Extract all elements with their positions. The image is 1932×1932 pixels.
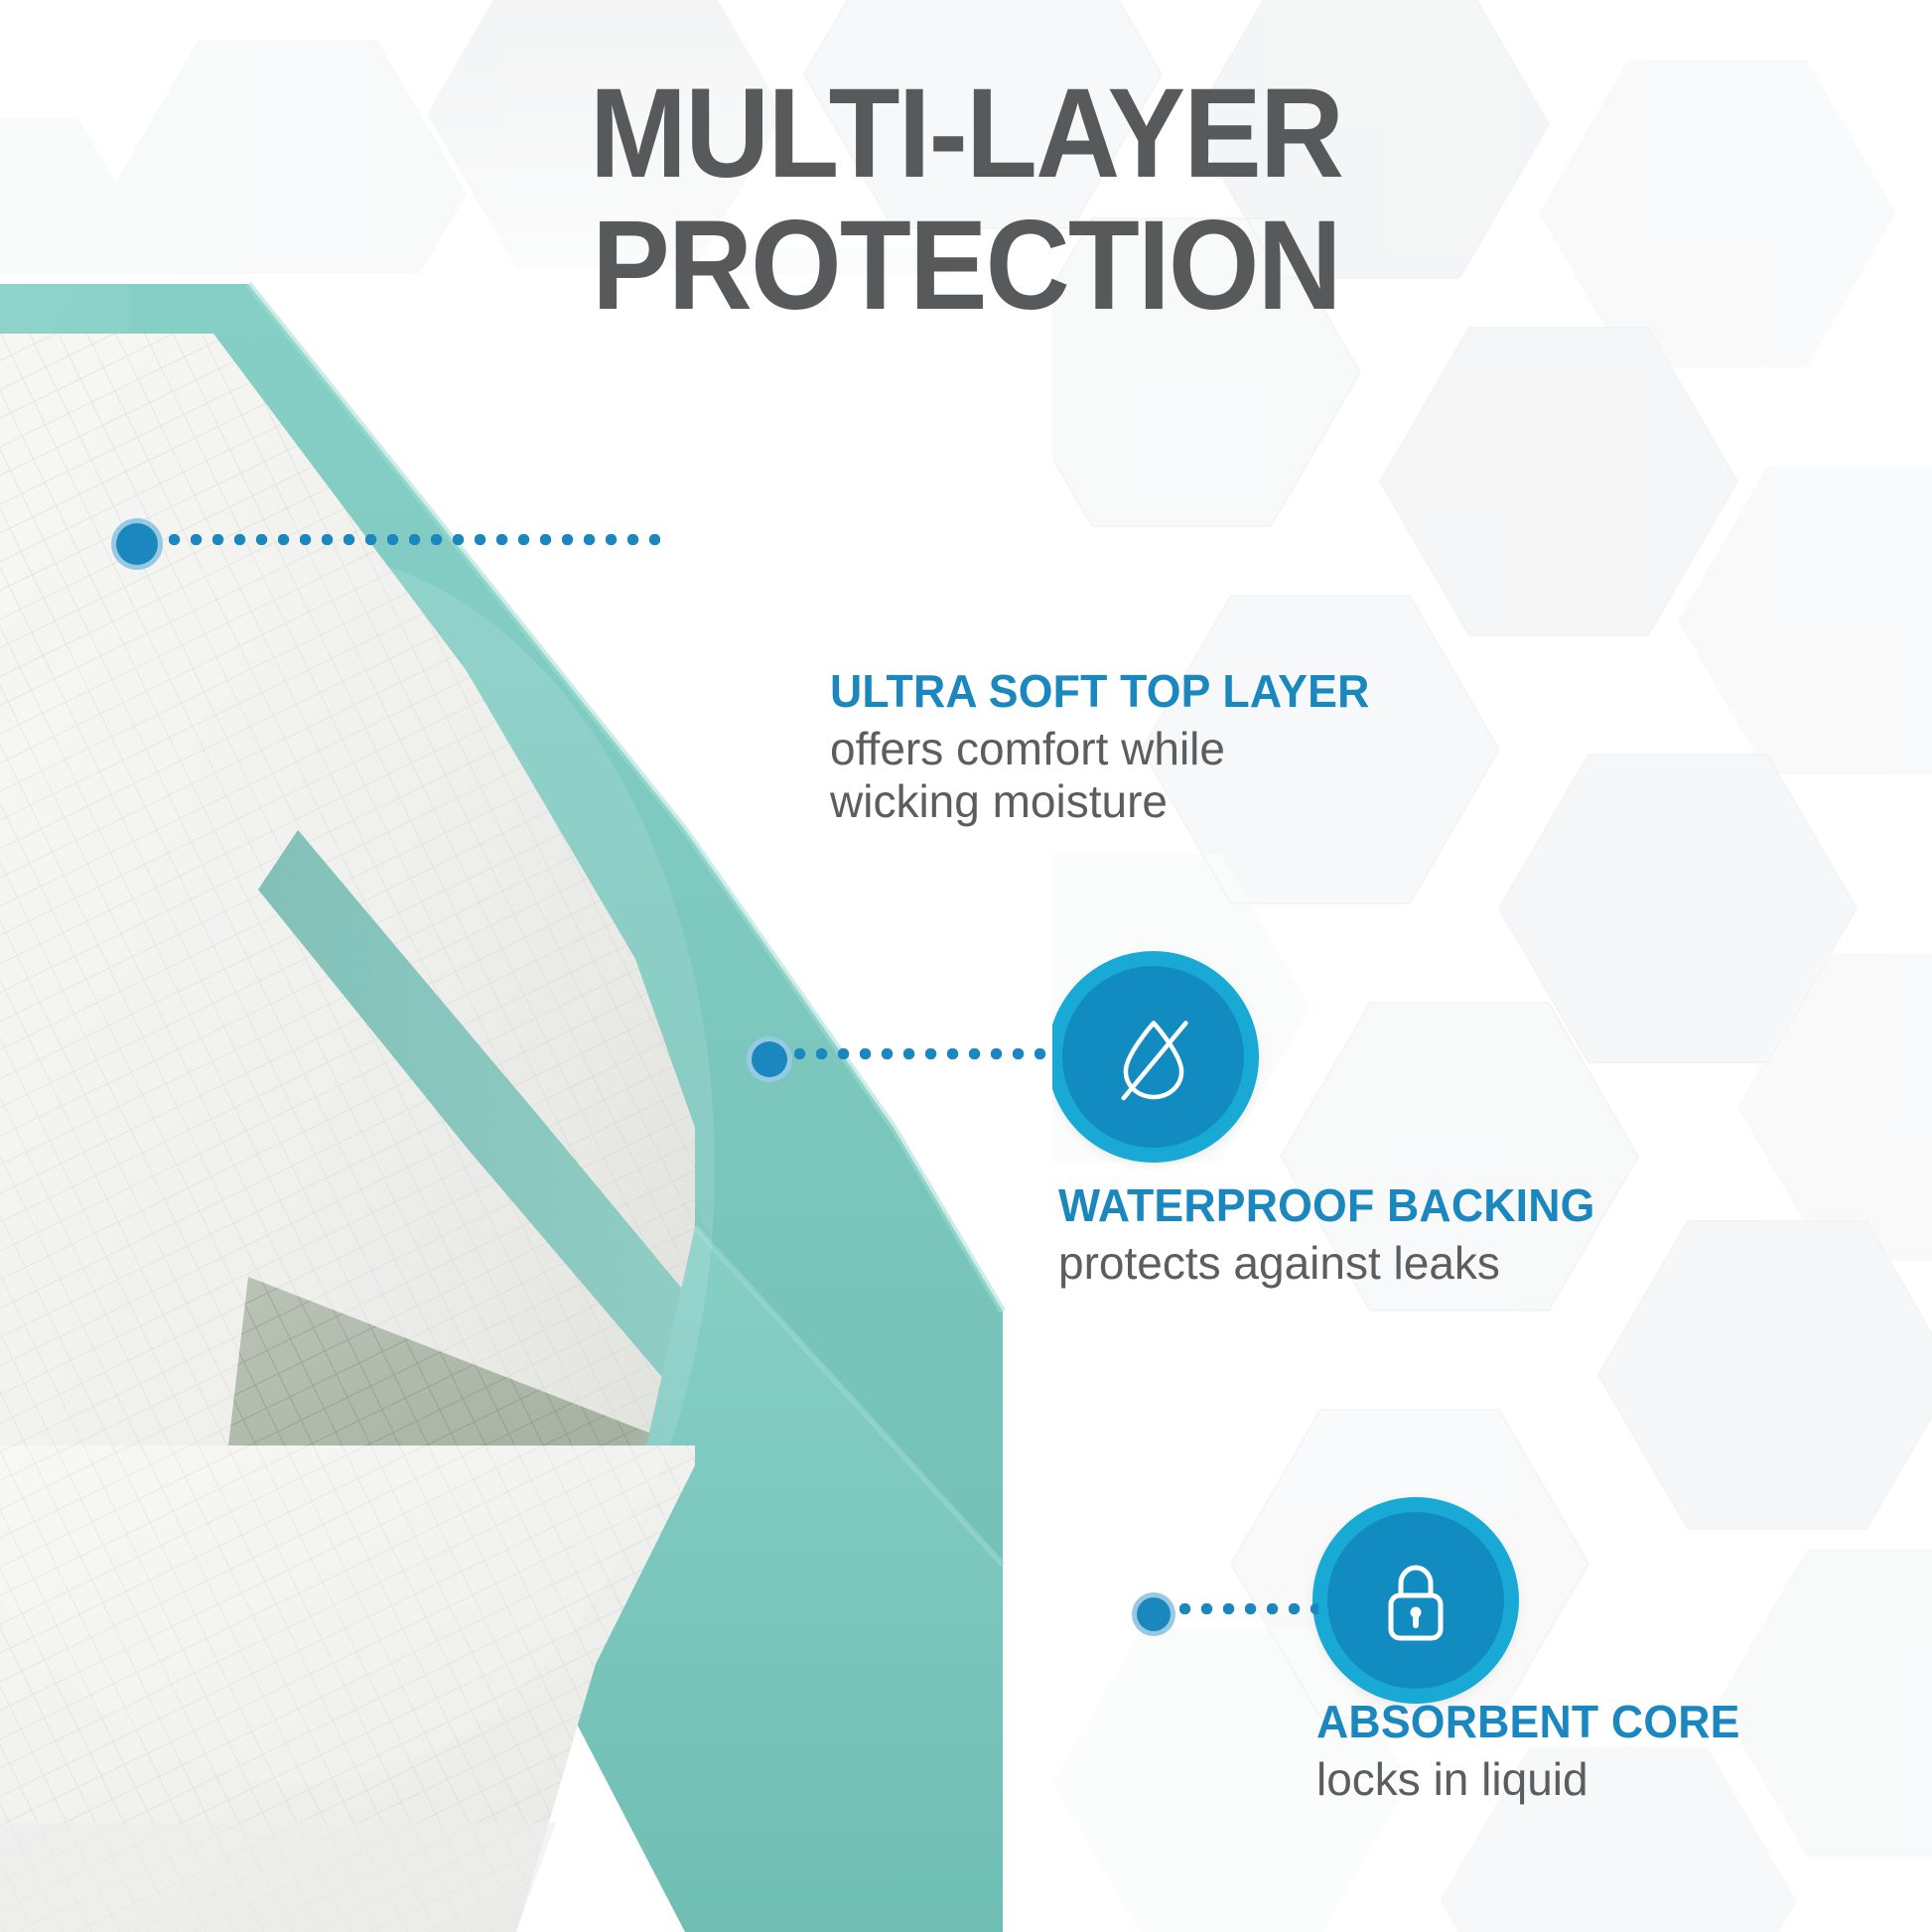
connector-line-1	[169, 534, 660, 545]
feature-text-ultra-soft-top-layer: ULTRA SOFT TOP LAYER offers comfort whil…	[830, 667, 1724, 828]
product-photo	[0, 274, 1052, 1932]
feature-subtext-absorbent-core: locks in liquid	[1316, 1753, 1932, 1806]
no-water-drop-icon	[1100, 1004, 1207, 1111]
feature-text-waterproof-backing: WATERPROOF BACKING protects against leak…	[1058, 1181, 1932, 1290]
connector-dot-2	[747, 1036, 792, 1082]
feature-text-absorbent-core: ABSORBENT CORE locks in liquid	[1316, 1698, 1932, 1806]
feature-subtext-waterproof-backing: protects against leaks	[1058, 1237, 1932, 1290]
feature-heading-ultra-soft-top-layer: ULTRA SOFT TOP LAYER	[830, 667, 1697, 717]
page-title: MULTI-LAYER PROTECTION	[77, 68, 1855, 332]
badge-waterproof-backing	[1047, 951, 1259, 1163]
badge-absorbent-core	[1312, 1497, 1519, 1704]
connector-dot-3	[1132, 1592, 1175, 1636]
connector-line-3	[1179, 1603, 1318, 1614]
feature-heading-absorbent-core: ABSORBENT CORE	[1316, 1698, 1932, 1747]
lock-icon	[1366, 1551, 1465, 1650]
connector-dot-1	[111, 518, 163, 570]
infographic-canvas: MULTI-LAYER PROTECTION	[0, 0, 1932, 1932]
feature-subtext-ultra-soft-top-layer: offers comfort while wicking moisture	[830, 723, 1724, 829]
feature-heading-waterproof-backing: WATERPROOF BACKING	[1058, 1181, 1906, 1231]
connector-line-2	[794, 1048, 1054, 1059]
